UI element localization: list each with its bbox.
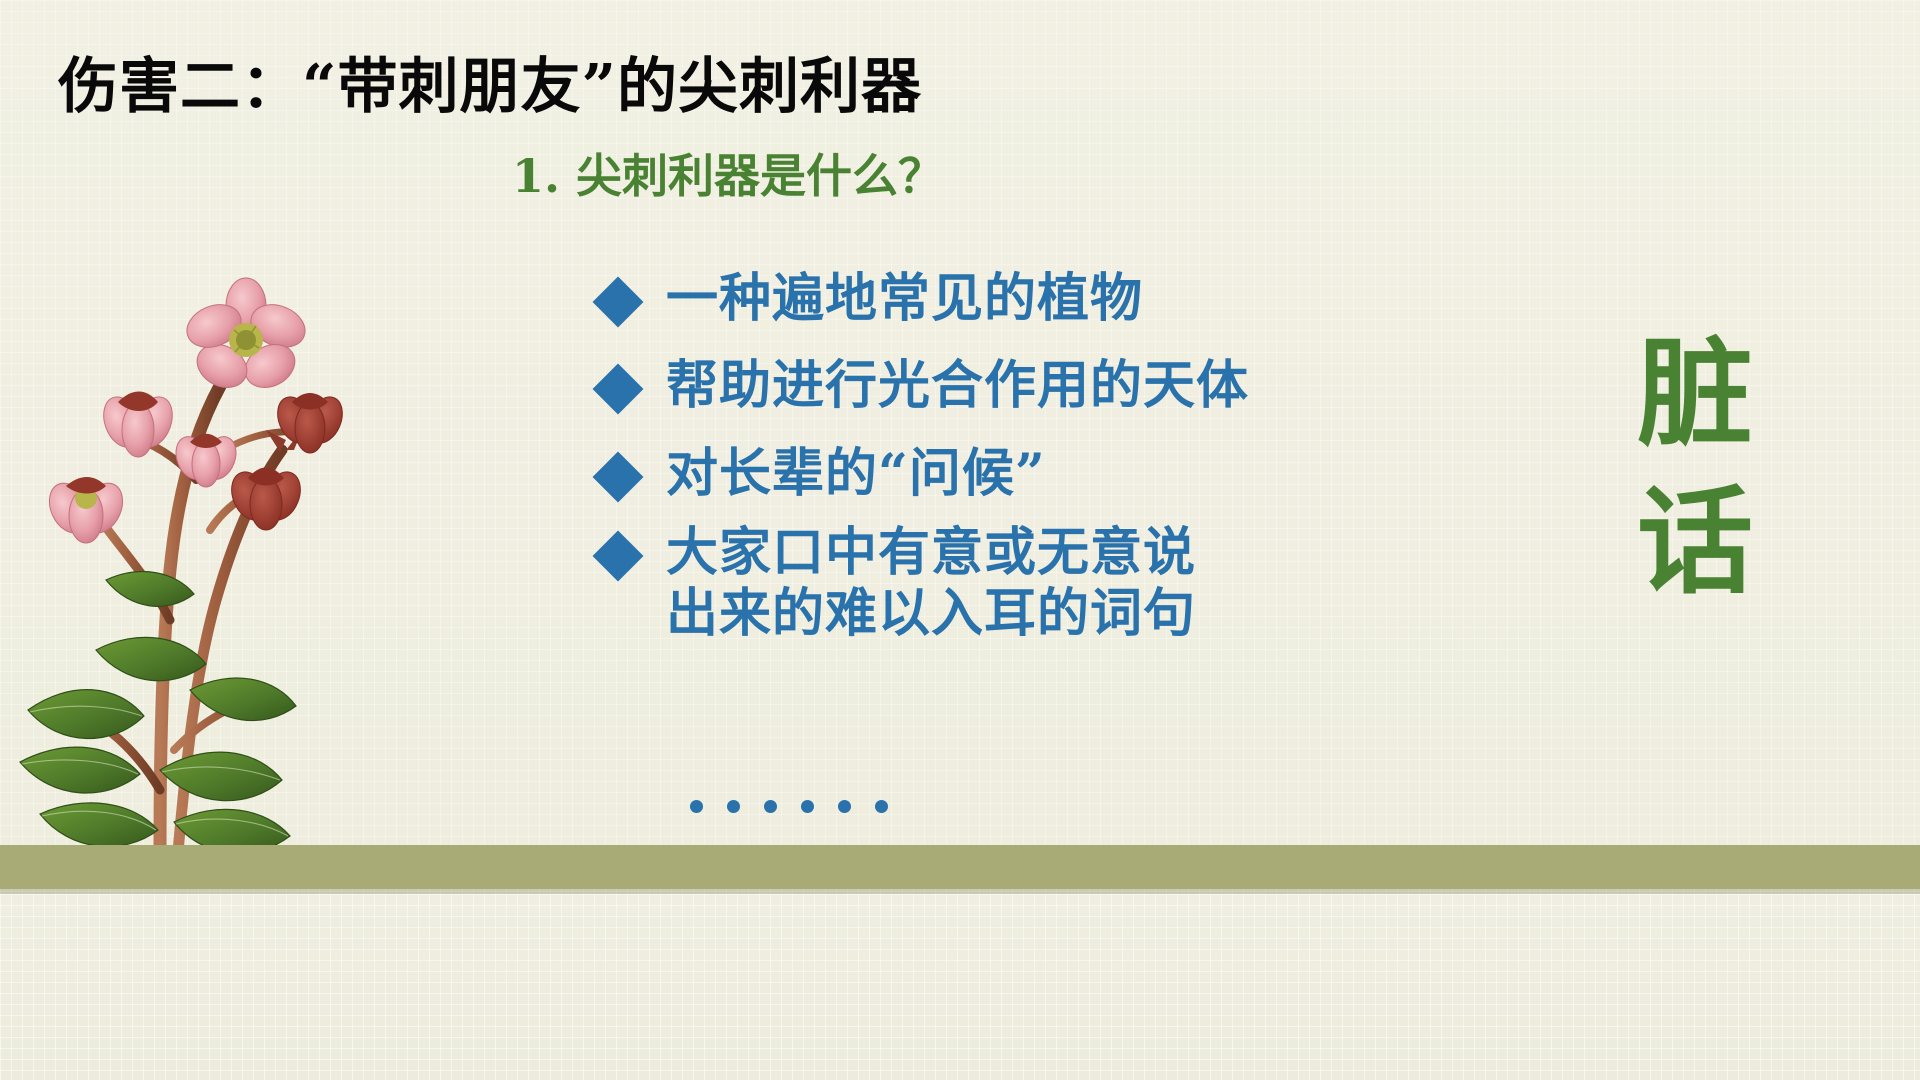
diamond-bullet-icon	[593, 277, 644, 328]
ellipsis-dot	[875, 800, 888, 813]
vertical-keyword: 脏 话	[1620, 320, 1770, 617]
diamond-bullet-icon	[593, 531, 644, 582]
slide-subtitle: 1. 尖刺利器是什么？	[512, 140, 944, 206]
diamond-bullet-icon	[593, 451, 644, 502]
ellipsis-dots	[690, 800, 888, 813]
list-item-label: 帮助进行光合作用的天体	[666, 355, 1249, 416]
list-item-label: 一种遍地常见的植物	[666, 268, 1143, 329]
bullet-list: 一种遍地常见的植物 帮助进行光合作用的天体 对长辈的“问候” 大家口中有意或无意…	[600, 268, 1500, 671]
list-item: 对长辈的“问候”	[600, 443, 1500, 504]
vertical-keyword-char-2: 话	[1620, 468, 1770, 616]
ellipsis-dot	[838, 800, 851, 813]
ellipsis-dot	[690, 800, 703, 813]
list-item: 大家口中有意或无意说 出来的难以入耳的词句	[600, 522, 1500, 645]
list-item: 帮助进行光合作用的天体	[600, 355, 1500, 416]
list-item-label: 大家口中有意或无意说 出来的难以入耳的词句	[666, 522, 1196, 645]
ellipsis-dot	[727, 800, 740, 813]
diamond-bullet-icon	[593, 364, 644, 415]
lower-panel	[0, 894, 1920, 1080]
ellipsis-dot	[764, 800, 777, 813]
slide-canvas: 伤害二：“带刺朋友”的尖刺利器 1. 尖刺利器是什么？ 一种遍地常见的植物 帮助…	[0, 0, 1920, 1080]
olive-divider-band	[0, 845, 1920, 889]
list-item: 一种遍地常见的植物	[600, 268, 1500, 329]
plant-illustration	[10, 150, 440, 880]
ellipsis-dot	[801, 800, 814, 813]
list-item-label: 对长辈的“问候”	[666, 443, 1046, 504]
vertical-keyword-char-1: 脏	[1620, 320, 1770, 468]
slide-title: 伤害二：“带刺朋友”的尖刺利器	[58, 38, 922, 125]
